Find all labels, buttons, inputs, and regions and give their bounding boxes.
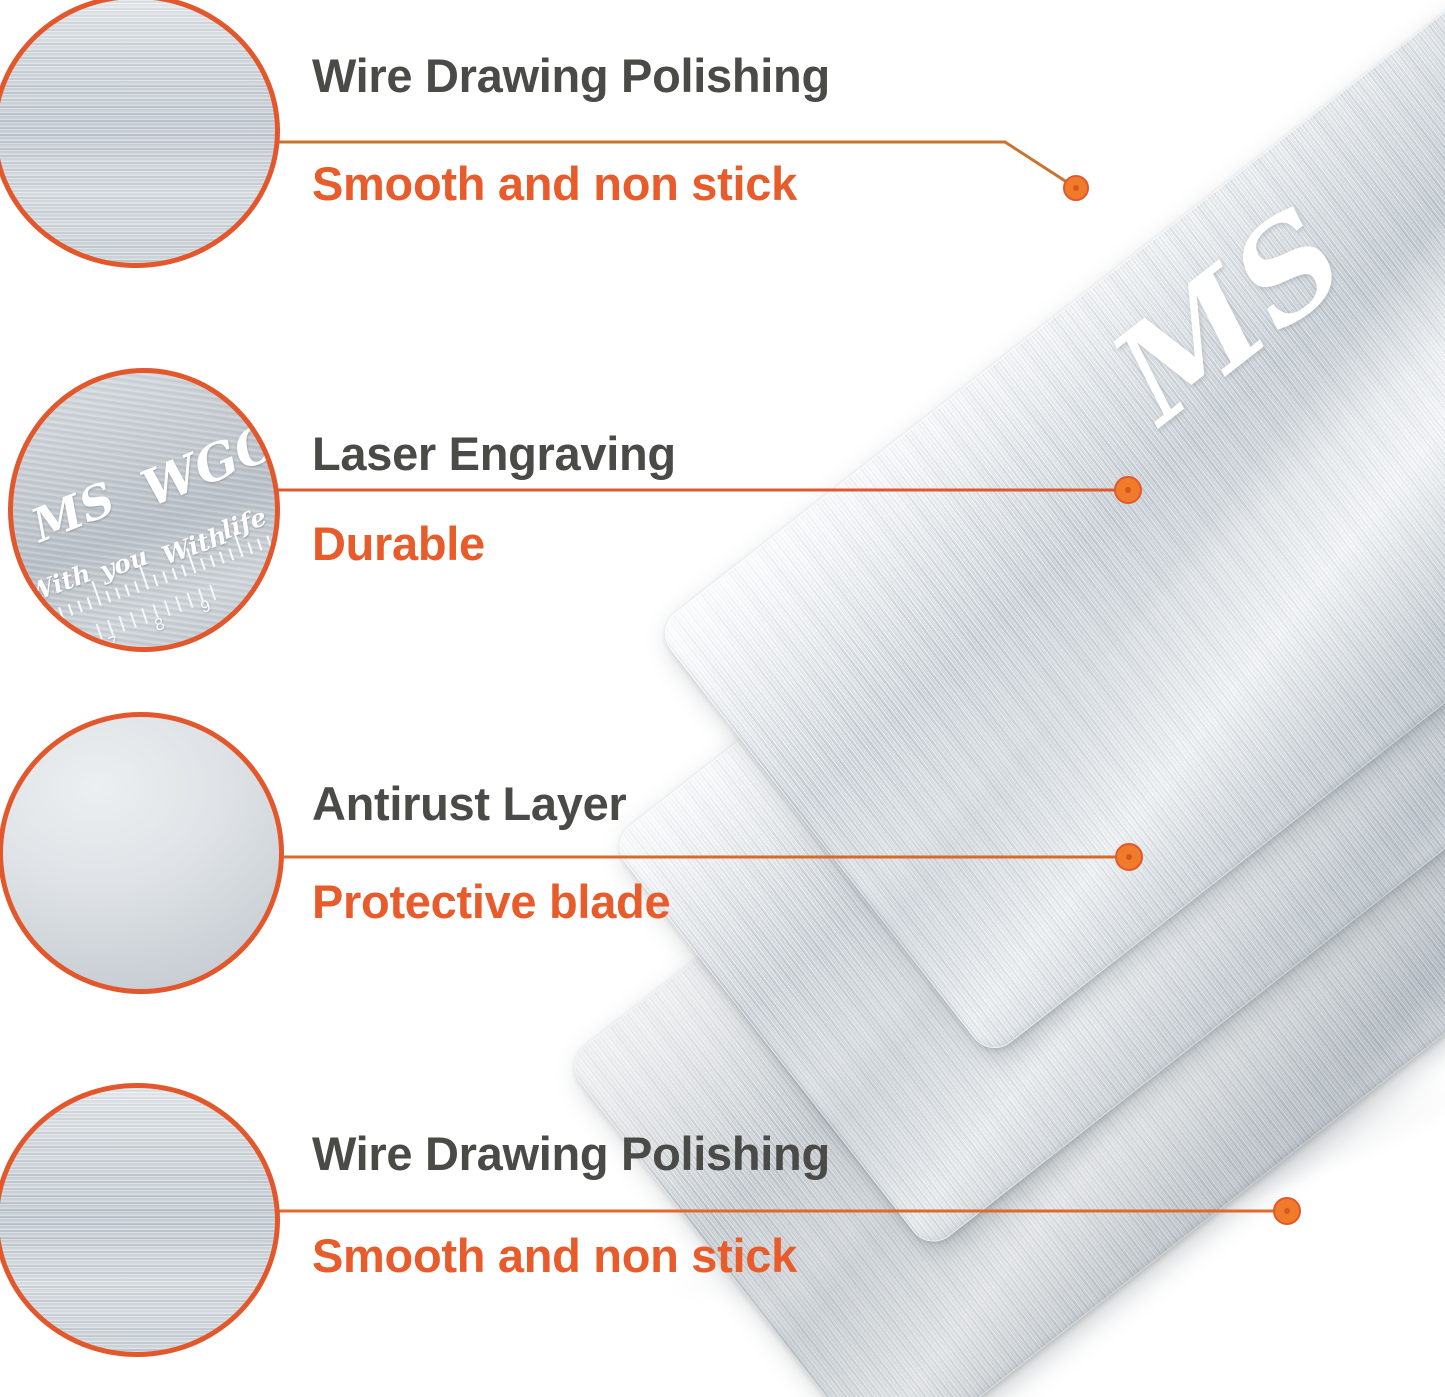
swatch-wire-drawing-polishing-bottom — [0, 1083, 280, 1357]
brand-logo-engraving: MS — [1085, 176, 1377, 452]
callout-subtitle-3: Protective blade — [312, 878, 670, 925]
infographic-canvas: MS MS WGO With you With life — [0, 0, 1445, 1397]
callout-title-2: Laser Engraving — [312, 430, 676, 477]
swatch-texture-smooth — [3, 717, 279, 989]
swatch-antirust-layer — [0, 712, 284, 994]
leader-dot-4 — [1274, 1198, 1300, 1224]
cutting-board-middle-layer — [609, 208, 1445, 1252]
swatch-texture-brushed — [0, 0, 275, 263]
leader-dot-2 — [1115, 477, 1141, 503]
product-drop-shadow — [658, 1033, 1445, 1348]
callout-subtitle-4: Smooth and non stick — [312, 1232, 797, 1279]
callout-title-3: Antirust Layer — [312, 780, 626, 827]
swatch-texture-engraved: MS WGO With you With life — [13, 373, 275, 647]
swatch-laser-engraving: MS WGO With you With life — [8, 368, 280, 652]
callout-subtitle-1: Smooth and non stick — [312, 160, 797, 207]
swatch-texture-brushed-2 — [0, 1088, 275, 1352]
ruler-label-6: 6 — [60, 650, 75, 652]
leader-dot-2-core — [1125, 487, 1131, 493]
leader-dot-1 — [1064, 176, 1088, 200]
leader-dot-1-core — [1073, 185, 1079, 191]
callout-title-4: Wire Drawing Polishing — [312, 1130, 830, 1177]
engraved-text-ms: MS — [24, 471, 122, 553]
callout-title-1: Wire Drawing Polishing — [312, 52, 830, 99]
swatch-wire-drawing-polishing-top — [0, 0, 280, 268]
leader-dot-3 — [1116, 844, 1142, 870]
leader-dot-3-core — [1126, 854, 1132, 860]
leader-dot-4-core — [1284, 1208, 1290, 1214]
callout-subtitle-2: Durable — [312, 520, 485, 567]
